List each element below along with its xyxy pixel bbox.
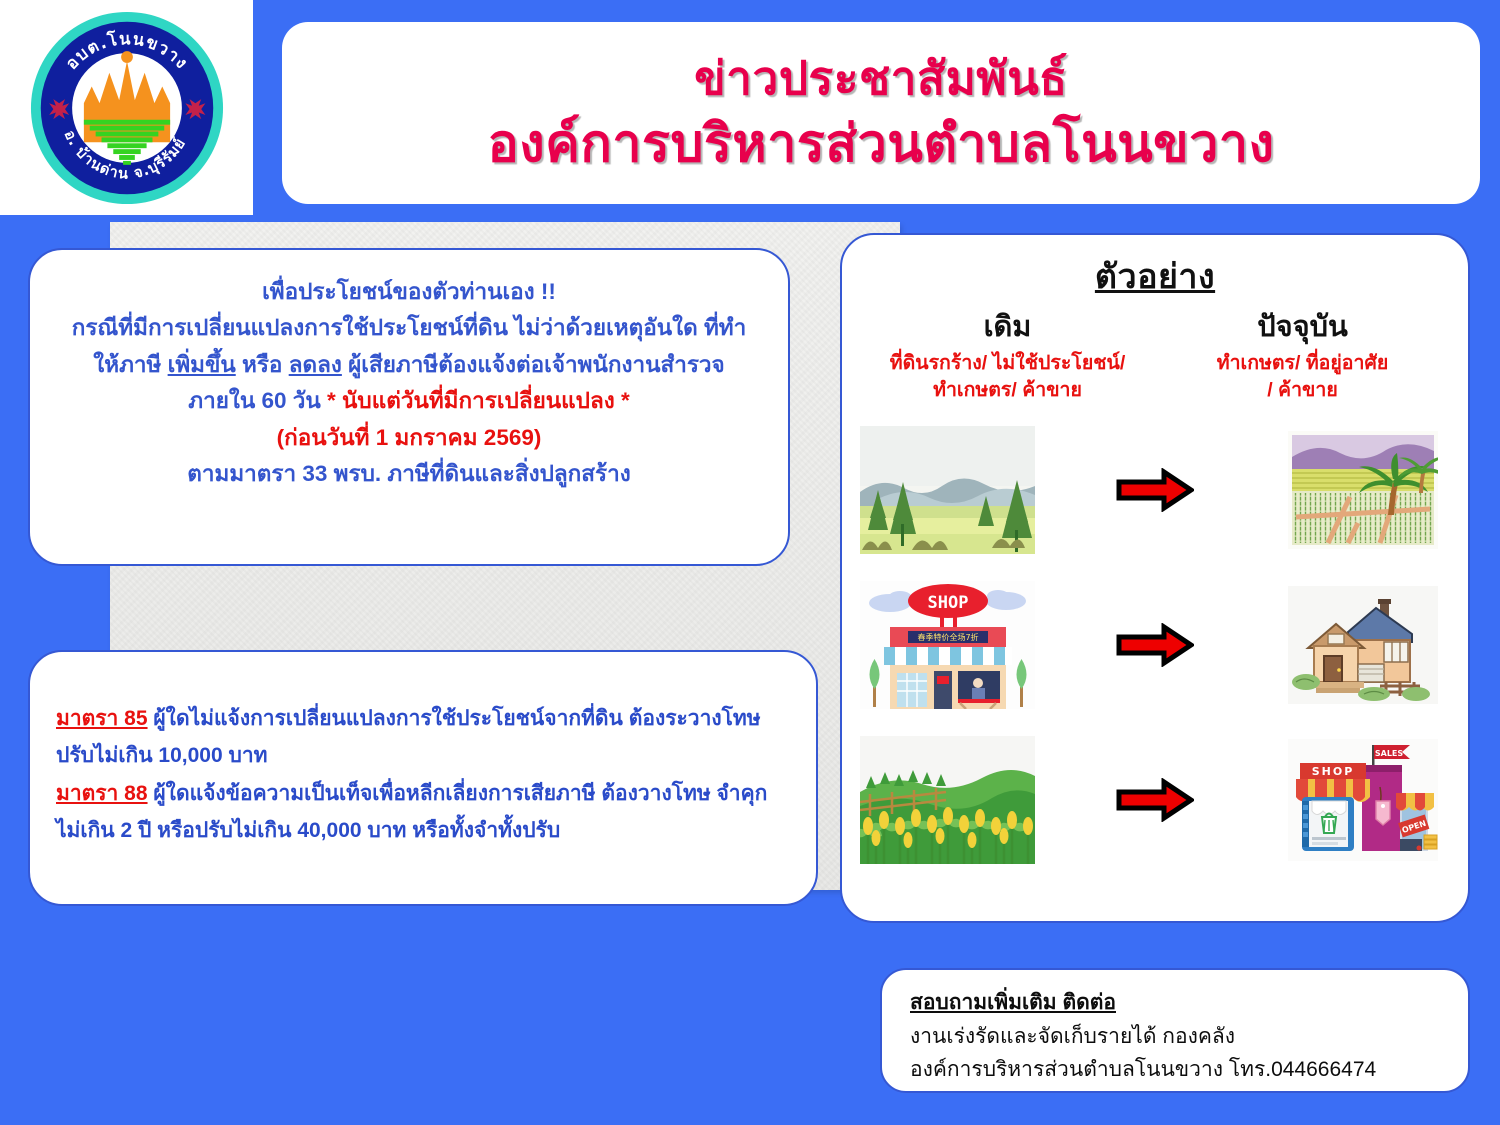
obt-nonkhwang-emblem-icon: อบต.โนนขวาง อ. บ้านด่าน จ.บุรีรัมย์ [29,10,225,206]
penalty-item-88: มาตรา 88 ผู้ใดแจ้งข้อความเป็นเท็จเพื่อหล… [56,775,788,812]
notice-line-3-c: ผู้เสียภาษีต้องแจ้งต่อเจ้าพนักงานสำรวจ [342,352,725,377]
example-before-subtitle-line1: ที่ดินรกร้าง/ ไม่ใช้ประโยชน์/ [878,350,1138,376]
example-column-before: เดิม ที่ดินรกร้าง/ ไม่ใช้ประโยชน์/ ทำเกษ… [878,311,1138,403]
arrow-cell [1100,778,1210,822]
shop-sign-label: SHOP [1311,765,1354,778]
example-card: ตัวอย่าง เดิม ที่ดินรกร้าง/ ไม่ใช้ประโยช… [840,233,1470,923]
example-before-heading: เดิม [878,311,1138,344]
retail-shop-with-sales-flags-image: SALES SHOP [1288,739,1438,861]
example-after-subtitle-line2: / ค้าขาย [1173,377,1433,403]
penalty-card: มาตรา 85 ผู้ใดไม่แจ้งการเปลี่ยนแปลงการใช… [28,650,818,906]
penalty-text-block: มาตรา 85 ผู้ใดไม่แจ้งการเปลี่ยนแปลงการใช… [30,652,816,850]
example-before-subtitle-line2: ทำเกษตร/ ค้าขาย [878,377,1138,403]
notice-line-6-law: ตามมาตรา 33 พรบ. ภาษีที่ดินและสิ่งปลูกสร… [56,456,762,492]
red-right-arrow-icon [1116,623,1194,667]
example-row: SHOP 春季特价全场7折 [842,568,1468,723]
penalty-section-88-label: มาตรา 88 [56,782,148,805]
red-right-arrow-icon [1116,778,1194,822]
notice-text-block: เพื่อประโยชน์ของตัวท่านเอง !! กรณีที่มีก… [30,250,788,493]
example-after-subtitle: ทำเกษตร/ ที่อยู่อาศัย / ค้าขาย [1173,350,1433,403]
notice-underline-increase: เพิ่มขึ้น [168,352,236,377]
poster-root: อบต.โนนขวาง อ. บ้านด่าน จ.บุรีรัมย์ ข่าว… [0,0,1500,1125]
contact-office-and-phone: องค์การบริหารส่วนตำบลโนนขวาง โทร.0446664… [910,1053,1468,1087]
after-thumb-wrap [1275,581,1450,709]
penalty-item-88-line2: ไม่เกิน 2 ปี หรือปรับไม่เกิน 40,000 บาท … [56,812,788,849]
example-row [842,413,1468,568]
notice-line-3: ให้ภาษี เพิ่มขึ้น หรือ ลดลง ผู้เสียภาษีต… [56,347,762,383]
penalty-item-85-line2: ปรับไม่เกิน 10,000 บาท [56,737,788,774]
shop-banner-label: 春季特价全场7折 [917,632,978,642]
example-after-subtitle-line1: ทำเกษตร/ ที่อยู่อาศัย [1173,350,1433,376]
example-rows: SHOP 春季特价全场7折 [842,413,1468,878]
header-title-line-1: ข่าวประชาสัมพันธ์ [694,53,1068,104]
red-right-arrow-icon [1116,468,1194,512]
example-after-heading: ปัจจุบัน [1173,311,1433,344]
arrow-cell [1100,468,1210,512]
notice-line-1: เพื่อประโยชน์ของตัวท่านเอง !! [56,274,762,310]
example-column-headings: เดิม ที่ดินรกร้าง/ ไม่ใช้ประโยชน์/ ทำเกษ… [842,307,1468,403]
notice-card: เพื่อประโยชน์ของตัวท่านเอง !! กรณีที่มีก… [28,248,790,566]
farm-plantation-with-palm-trees-image [1288,431,1438,549]
sales-flag-label: SALES [1374,749,1403,758]
example-title: ตัวอย่าง [842,249,1468,303]
penalty-section-85-text: ผู้ใดไม่แจ้งการเปลี่ยนแปลงการใช้ประโยชน์… [148,707,761,730]
penalty-section-85-label: มาตรา 85 [56,707,148,730]
arrow-cell [1100,623,1210,667]
corn-field-image [860,736,1035,864]
contact-department: งานเร่งรัดและจัดเก็บรายได้ กองคลัง [910,1020,1468,1054]
penalty-section-88-text: ผู้ใดแจ้งข้อความเป็นเท็จเพื่อหลีกเลี่ยงก… [148,782,768,805]
notice-line-3-a: ให้ภาษี [93,352,167,377]
after-thumb-wrap: SALES SHOP [1275,736,1450,864]
residential-house-image [1288,586,1438,704]
notice-line-5-deadline: (ก่อนวันที่ 1 มกราคม 2569) [56,420,762,456]
contact-heading: สอบถามเพิ่มเติม ติดต่อ [910,986,1468,1020]
contact-card: สอบถามเพิ่มเติม ติดต่อ งานเร่งรัดและจัดเ… [880,968,1470,1093]
notice-line-3-b: หรือ [236,352,289,377]
example-column-after: ปัจจุบัน ทำเกษตร/ ที่อยู่อาศัย / ค้าขาย [1173,311,1433,403]
after-thumb-wrap [1275,426,1450,554]
header-banner: ข่าวประชาสัมพันธ์ องค์การบริหารส่วนตำบลโ… [282,22,1480,204]
notice-line-2: กรณีที่มีการเปลี่ยนแปลงการใช้ประโยชน์ที่… [56,310,762,346]
organization-logo: อบต.โนนขวาง อ. บ้านด่าน จ.บุรีรัมย์ [0,0,253,215]
example-before-subtitle: ที่ดินรกร้าง/ ไม่ใช้ประโยชน์/ ทำเกษตร/ ค… [878,350,1138,403]
notice-underline-decrease: ลดลง [289,352,342,377]
notice-line-4-a: ภายใน 60 วัน [188,388,327,413]
contact-text-block: สอบถามเพิ่มเติม ติดต่อ งานเร่งรัดและจัดเ… [882,970,1468,1087]
example-row: SALES SHOP [842,723,1468,878]
shop-storefront-image: SHOP 春季特价全场7折 [860,581,1035,709]
shop-sign-label: SHOP [928,593,969,613]
penalty-item-85: มาตรา 85 ผู้ใดไม่แจ้งการเปลี่ยนแปลงการใช… [56,700,788,737]
notice-line-4-red: * นับแต่วันที่มีการเปลี่ยนแปลง * [327,388,630,413]
notice-line-4: ภายใน 60 วัน * นับแต่วันที่มีการเปลี่ยนแ… [56,383,762,419]
header-title-line-2: องค์การบริหารส่วนตำบลโนนขวาง [487,116,1274,173]
empty-landscape-with-pine-trees-image [860,426,1035,554]
